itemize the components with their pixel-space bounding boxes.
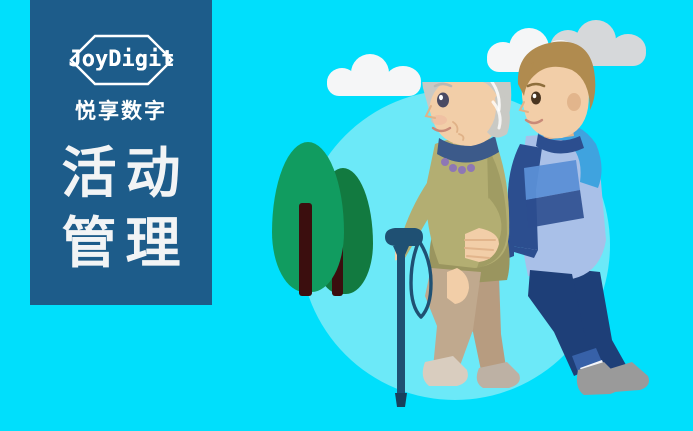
page-title: 活动 管理 [30,138,212,278]
tree-front-trunk [299,203,312,296]
page-title-line-2: 管理 [30,208,212,278]
page-title-line-1: 活动 [30,138,212,208]
activity-management-banner: JoyDigit 悦享数字 活动 管理 [0,0,693,431]
title-panel: JoyDigit 悦享数字 活动 管理 [30,0,212,305]
walking-cane-icon [375,225,445,410]
brand-logo: JoyDigit 悦享数字 [30,34,212,125]
logo-wordmark: JoyDigit [69,43,174,77]
logo-hexagon-wrapper: JoyDigit [69,34,174,86]
logo-subtitle: 悦享数字 [30,95,212,125]
